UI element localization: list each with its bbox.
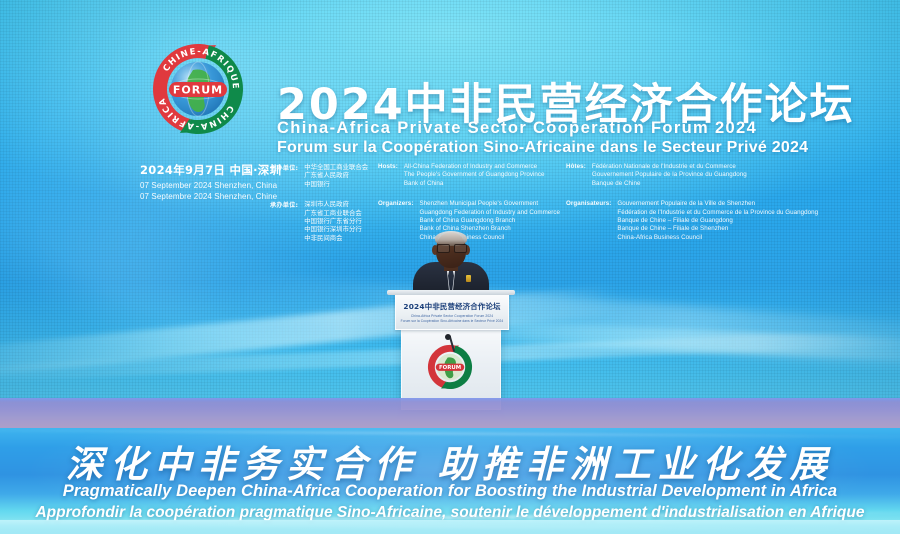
organizers-item: 中国银行深圳市分行 [304, 225, 368, 233]
hosts-item: All-China Federation of Industry and Com… [404, 163, 560, 171]
hosts-label-english: Hosts: [378, 163, 398, 188]
lectern: FORUM 2024中非民营经济合作论坛 China-Africa Privat… [387, 290, 515, 410]
hosts-item: Gouvernement Populaire de la Province du… [592, 171, 818, 179]
credits-column-chinese: 主办单位: 中华全国工商业联合会 广东省人民政府 中国银行 承办单位: 深圳市人… [270, 163, 368, 251]
organizers-french: Organisateurs: Gouvernement Populaire de… [566, 200, 818, 242]
organizers-item: Bank of China Guangdong Branch [420, 217, 561, 225]
event-date-block: 2024年9月7日 中国·深圳 07 September 2024 Shenzh… [140, 162, 270, 201]
stage-floor-band [0, 398, 900, 430]
organizers-item: Banque de Chine – Filiale de Shenzhen [617, 225, 818, 233]
conference-stage-photo: FORUM CHINE-AFRIQUE CHINA-AFRICA 2024中非民… [0, 0, 900, 534]
microphone-icon [441, 334, 463, 352]
credits-column-french: Hôtes: Fédération Nationale de l'Industr… [566, 163, 818, 251]
hosts-item: 广东省人民政府 [304, 171, 368, 179]
organizers-chinese: 承办单位: 深圳市人民政府 广东省工商业联合会 中国银行广东省分行 中国银行深圳… [270, 200, 368, 242]
hosts-label-french: Hôtes: [566, 163, 586, 188]
hosts-french: Hôtes: Fédération Nationale de l'Industr… [566, 163, 818, 188]
lectern-sign-french: Forum sur la Coopération Sino-Africaine … [401, 319, 504, 323]
organizers-item: Shenzhen Municipal People's Government [420, 200, 561, 208]
forum-title-english: China-Africa Private Sector Cooperation … [277, 119, 757, 138]
forum-title-french: Forum sur la Coopération Sino-Africaine … [277, 139, 808, 157]
hosts-item: Banque de Chine [592, 180, 818, 188]
forum-emblem-icon: FORUM CHINE-AFRIQUE CHINA-AFRICA [147, 38, 249, 140]
lectern-sign-chinese: 2024中非民营经济合作论坛 [403, 301, 500, 312]
organizers-item: Fédération de l'Industrie et du Commerce… [617, 209, 818, 217]
speaker-lapel-pin [466, 275, 471, 282]
lectern-sign-english: China-Africa Private Sector Cooperation … [411, 314, 493, 318]
slogan-english: Pragmatically Deepen China-Africa Cooper… [0, 482, 900, 501]
speaker-glasses-icon [437, 244, 465, 252]
hosts-item: 中国银行 [304, 180, 368, 188]
hosts-item: Bank of China [404, 180, 560, 188]
slogan-banner: 深化中非务实合作 助推非洲工业化发展 Pragmatically Deepen … [0, 428, 900, 534]
banner-bottom-gloss [0, 520, 900, 534]
backdrop-header: FORUM CHINE-AFRIQUE CHINA-AFRICA 2024中非民… [0, 24, 900, 224]
organizers-item: 广东省工商业联合会 [304, 209, 368, 217]
organizers-label-chinese: 承办单位: [270, 200, 298, 242]
hosts-item: The People's Government of Guangdong Pro… [404, 171, 560, 179]
hosts-chinese: 主办单位: 中华全国工商业联合会 广东省人民政府 中国银行 [270, 163, 368, 188]
event-date-english: 07 September 2024 Shenzhen, China [140, 181, 270, 190]
organizers-item: Banque de Chine – Filiale de Guangdong [617, 217, 818, 225]
organizers-item: 中非民间商会 [304, 234, 368, 242]
lectern-top-edge [387, 290, 515, 295]
svg-text:FORUM: FORUM [439, 365, 461, 371]
organizers-item: Guangdong Federation of Industry and Com… [420, 209, 561, 217]
event-date-chinese: 2024年9月7日 中国·深圳 [140, 162, 270, 178]
slogan-chinese: 深化中非务实合作 助推非洲工业化发展 [0, 434, 900, 488]
event-date-french: 07 Septembre 2024 Shenzhen, Chine [140, 192, 270, 201]
hosts-item: Fédération Nationale de l'Industrie et d… [592, 163, 818, 171]
lectern-sign: 2024中非民营经济合作论坛 China-Africa Private Sect… [395, 294, 509, 330]
hosts-label-chinese: 主办单位: [270, 163, 298, 188]
organizers-item: Gouvernement Populaire de la Ville de Sh… [617, 200, 818, 208]
organizers-label-french: Organisateurs: [566, 200, 611, 242]
svg-text:FORUM: FORUM [173, 84, 223, 97]
organizers-item: 深圳市人民政府 [304, 200, 368, 208]
podium-and-speaker: FORUM 2024中非民营经济合作论坛 China-Africa Privat… [387, 232, 515, 410]
hosts-english: Hosts: All-China Federation of Industry … [378, 163, 560, 188]
organizers-item: China-Africa Business Council [617, 234, 818, 242]
